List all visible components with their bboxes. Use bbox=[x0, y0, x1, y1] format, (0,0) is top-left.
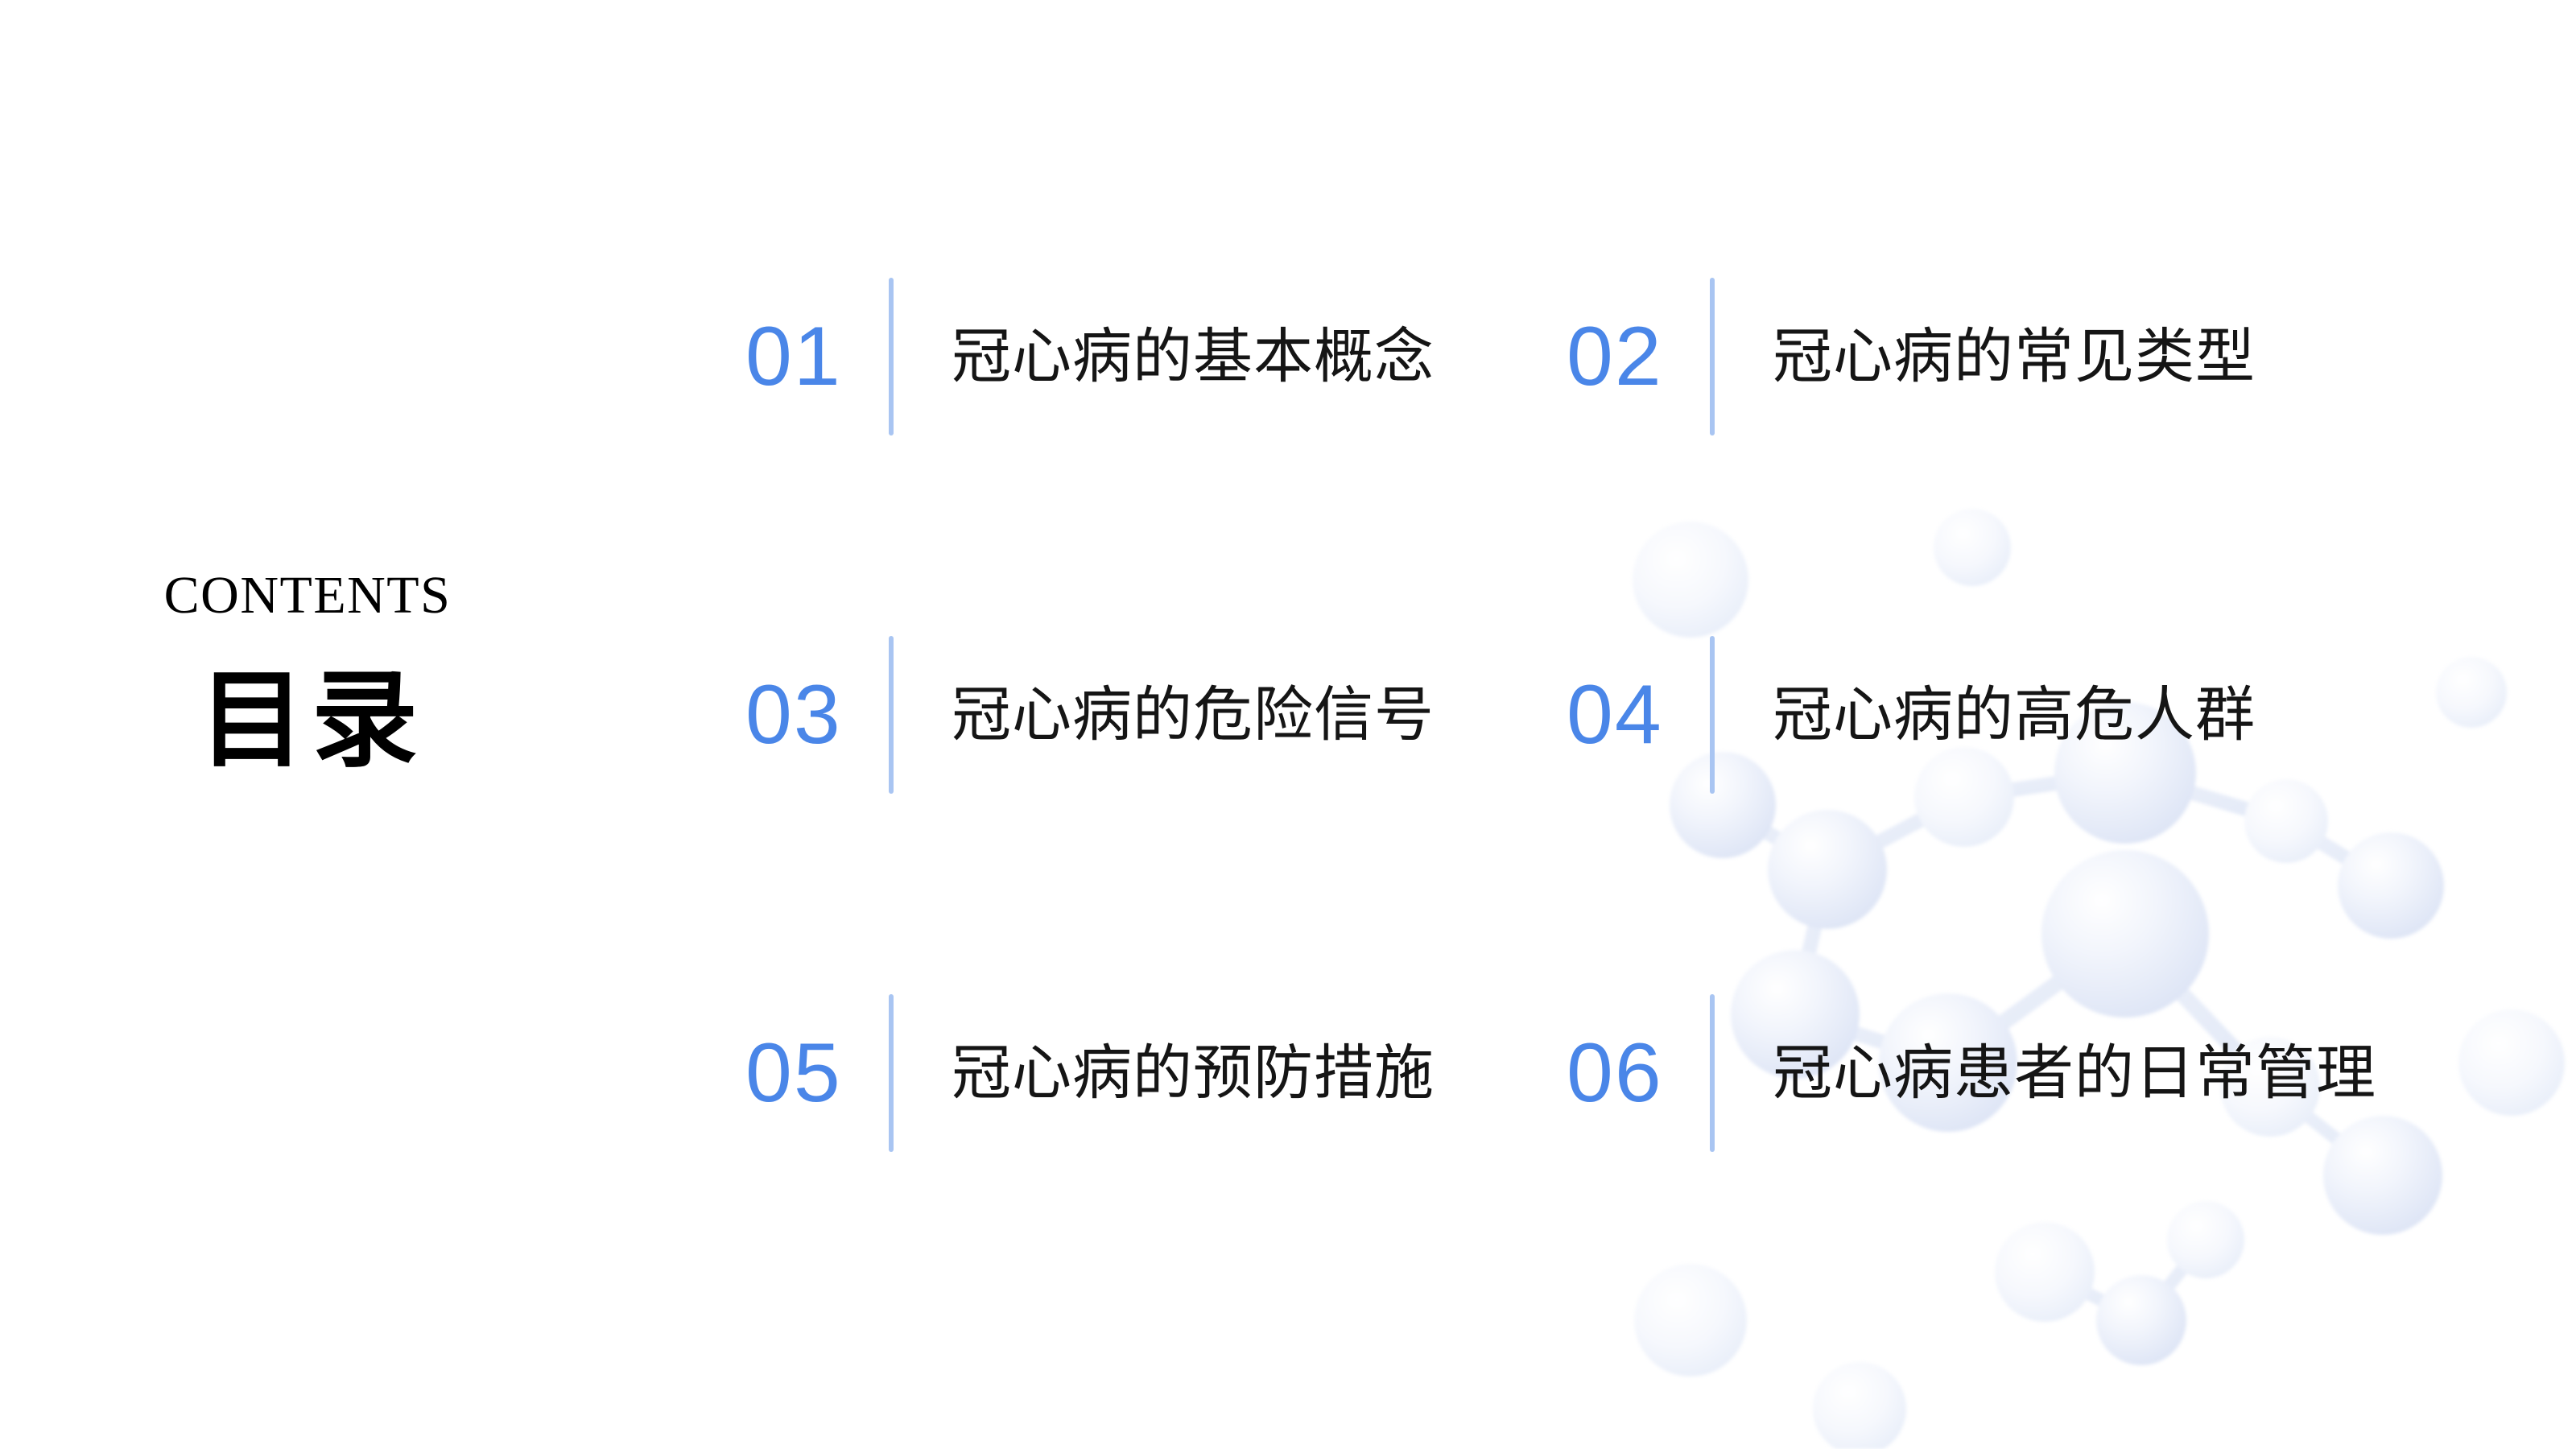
toc-number-06: 06 bbox=[1546, 1031, 1674, 1115]
toc-number-05: 05 bbox=[724, 1031, 853, 1115]
toc-item-03[interactable]: 03 冠心病的危险信号 bbox=[724, 624, 1546, 805]
page-title-chinese: 目录 bbox=[0, 665, 596, 776]
toc-label-02: 冠心病的常见类型 bbox=[1715, 323, 2367, 390]
toc-number-01: 01 bbox=[724, 315, 853, 398]
toc-label-05: 冠心病的预防措施 bbox=[894, 1039, 1546, 1107]
toc-label-06: 冠心病患者的日常管理 bbox=[1715, 1039, 2376, 1107]
toc-label-01: 冠心病的基本概念 bbox=[894, 323, 1546, 390]
toc-slide: CONTENTS 目录 01 冠心病的基本概念 02 冠心病的常见类型 03 冠… bbox=[0, 0, 2576, 1449]
toc-number-03: 03 bbox=[724, 673, 853, 757]
page-title-english: CONTENTS bbox=[0, 563, 596, 628]
toc-item-02[interactable]: 02 冠心病的常见类型 bbox=[1546, 266, 2367, 447]
toc-label-03: 冠心病的危险信号 bbox=[894, 681, 1546, 749]
toc-item-01[interactable]: 01 冠心病的基本概念 bbox=[724, 266, 1546, 447]
toc-item-05[interactable]: 05 冠心病的预防措施 bbox=[724, 982, 1546, 1163]
toc-label-04: 冠心病的高危人群 bbox=[1715, 681, 2367, 749]
toc-number-02: 02 bbox=[1546, 315, 1674, 398]
page-title-block: CONTENTS 目录 bbox=[0, 563, 596, 776]
toc-items-grid: 01 冠心病的基本概念 02 冠心病的常见类型 03 冠心病的危险信号 04 冠… bbox=[724, 266, 2560, 1163]
toc-number-04: 04 bbox=[1546, 673, 1674, 757]
toc-item-04[interactable]: 04 冠心病的高危人群 bbox=[1546, 624, 2367, 805]
toc-item-06[interactable]: 06 冠心病患者的日常管理 bbox=[1546, 982, 2367, 1163]
